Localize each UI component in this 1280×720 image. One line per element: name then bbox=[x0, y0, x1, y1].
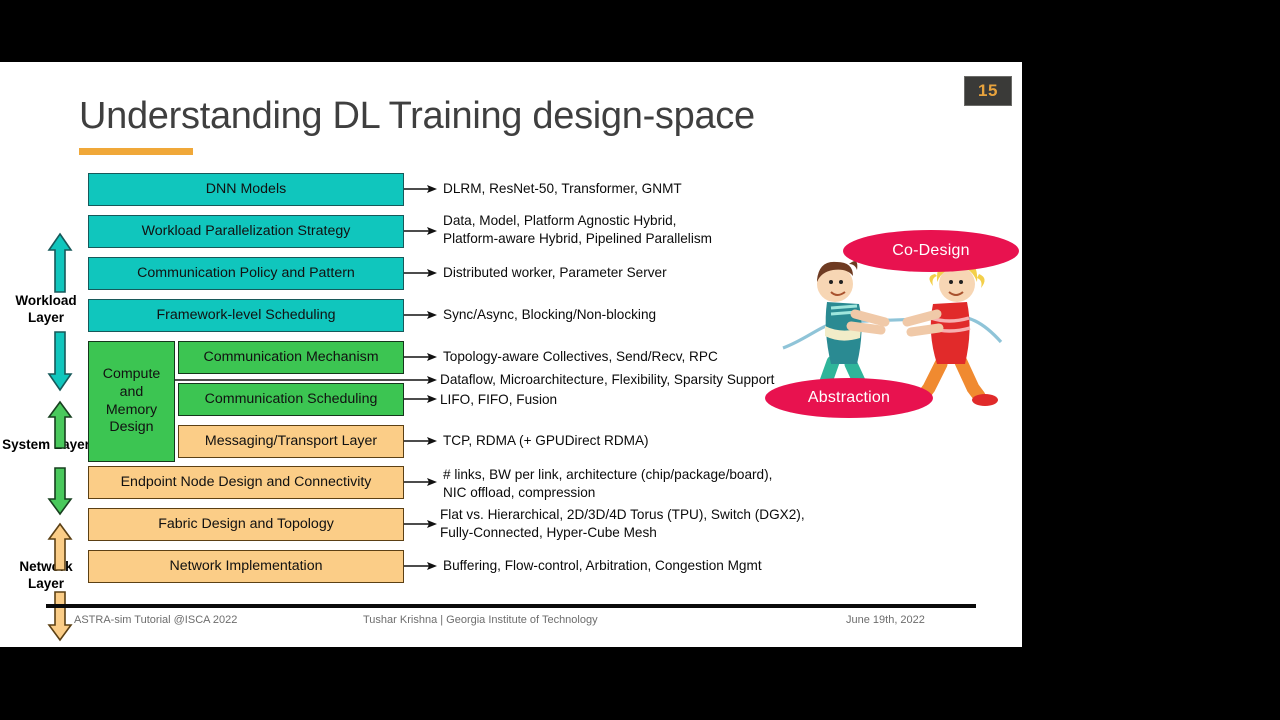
box-label: Communication Scheduling bbox=[205, 391, 378, 407]
box-communication-mechanism[interactable]: Communication Mechanism bbox=[178, 341, 404, 374]
connector-arrow-icon-dnn-models bbox=[404, 183, 438, 195]
box-dnn-models[interactable]: DNN Models bbox=[88, 173, 404, 206]
page-title: Understanding DL Training design-space bbox=[79, 95, 755, 138]
desc-communication-policy: Distributed worker, Parameter Server bbox=[443, 264, 667, 282]
desc-compute-memory: Dataflow, Microarchitecture, Flexibility… bbox=[440, 371, 774, 389]
connector-arrow-icon-messaging-transport bbox=[404, 435, 438, 447]
connector-arrow-icon-network-implementation bbox=[404, 560, 438, 572]
box-communication-scheduling[interactable]: Communication Scheduling bbox=[178, 383, 404, 416]
arrow-down-icon-system bbox=[47, 466, 73, 516]
box-fabric-design-and-topology[interactable]: Fabric Design and Topology bbox=[88, 508, 404, 541]
pill-co-design: Co-Design bbox=[843, 230, 1019, 272]
connector-arrow-icon-communication-scheduling bbox=[404, 393, 438, 405]
pill-label: Co-Design bbox=[892, 242, 969, 260]
arrow-up-icon-network bbox=[47, 522, 73, 572]
box-workload-parallelization-strategy[interactable]: Workload Parallelization Strategy bbox=[88, 215, 404, 248]
box-label: Communication Policy and Pattern bbox=[137, 265, 355, 281]
box-framework-level-scheduling[interactable]: Framework-level Scheduling bbox=[88, 299, 404, 332]
desc-messaging-transport: TCP, RDMA (+ GPUDirect RDMA) bbox=[443, 432, 649, 450]
connector-arrow-icon-communication-mechanism bbox=[404, 351, 438, 363]
box-endpoint-node-design-and-connectivity[interactable]: Endpoint Node Design and Connectivity bbox=[88, 466, 404, 499]
slide-page-badge: 15 bbox=[964, 76, 1012, 106]
slide-canvas: 15 Understanding DL Training design-spac… bbox=[0, 62, 1022, 647]
box-label: Fabric Design and Topology bbox=[158, 516, 334, 532]
box-label: Network Implementation bbox=[170, 558, 323, 574]
desc-dnn-models: DLRM, ResNet-50, Transformer, GNMT bbox=[443, 180, 682, 198]
desc-communication-mechanism: Topology-aware Collectives, Send/Recv, R… bbox=[443, 348, 718, 366]
layer-label-system: System Layer bbox=[0, 437, 92, 454]
box-communication-policy-and-pattern[interactable]: Communication Policy and Pattern bbox=[88, 257, 404, 290]
box-label: Messaging/Transport Layer bbox=[205, 433, 377, 449]
box-network-implementation[interactable]: Network Implementation bbox=[88, 550, 404, 583]
desc-fabric-design: Flat vs. Hierarchical, 2D/3D/4D Torus (T… bbox=[440, 506, 805, 542]
page-number: 15 bbox=[978, 81, 998, 101]
footer-left-text: ASTRA-sim Tutorial @ISCA 2022 bbox=[74, 614, 237, 626]
box-messaging-transport-layer[interactable]: Messaging/Transport Layer bbox=[178, 425, 404, 458]
connector-arrow-icon-endpoint-node bbox=[404, 476, 438, 488]
figure-courtesy[interactable]: Figure Courtesy: Srinivas Sridharan (Fac… bbox=[79, 646, 409, 647]
connector-arrow-icon-workload-parallelization bbox=[404, 225, 438, 237]
footer-center-text: Tushar Krishna | Georgia Institute of Te… bbox=[363, 614, 598, 626]
box-label: Workload Parallelization Strategy bbox=[142, 223, 351, 239]
arrow-down-icon-workload bbox=[47, 330, 73, 392]
connector-arrow-icon-framework-scheduling bbox=[404, 309, 438, 321]
tug-of-war-illustration: Co-Design Abstraction bbox=[765, 230, 1022, 425]
layer-label-network: Network Layer bbox=[0, 559, 92, 593]
box-label: Endpoint Node Design and Connectivity bbox=[121, 474, 372, 490]
box-label: DNN Models bbox=[206, 181, 286, 197]
desc-network-implementation: Buffering, Flow-control, Arbitration, Co… bbox=[443, 557, 762, 575]
footer-right-text: June 19th, 2022 bbox=[846, 614, 925, 626]
connector-arrow-icon-fabric-design bbox=[404, 518, 438, 530]
box-label: Framework-level Scheduling bbox=[157, 307, 336, 323]
pill-label: Abstraction bbox=[808, 389, 890, 407]
video-frame: 15 Understanding DL Training design-spac… bbox=[0, 0, 1280, 720]
arrow-up-icon-system bbox=[47, 400, 73, 450]
arrow-up-icon-workload bbox=[47, 232, 73, 294]
desc-workload-parallelization: Data, Model, Platform Agnostic Hybrid, P… bbox=[443, 212, 712, 248]
title-underline-accent bbox=[79, 148, 193, 155]
connector-arrow-icon-communication-policy bbox=[404, 267, 438, 279]
footer-divider bbox=[46, 604, 976, 608]
layer-label-workload: Workload Layer bbox=[0, 293, 92, 327]
desc-framework-scheduling: Sync/Async, Blocking/Non-blocking bbox=[443, 306, 656, 324]
box-label: Compute and Memory Design bbox=[103, 366, 161, 437]
box-compute-and-memory-design[interactable]: Compute and Memory Design bbox=[88, 341, 175, 462]
connector-arrow-icon-compute-memory bbox=[175, 374, 438, 386]
desc-communication-scheduling: LIFO, FIFO, Fusion bbox=[440, 391, 557, 409]
pill-abstraction: Abstraction bbox=[765, 378, 933, 418]
arrow-down-icon-network bbox=[47, 590, 73, 642]
desc-endpoint-node: # links, BW per link, architecture (chip… bbox=[443, 466, 772, 502]
box-label: Communication Mechanism bbox=[203, 349, 378, 365]
